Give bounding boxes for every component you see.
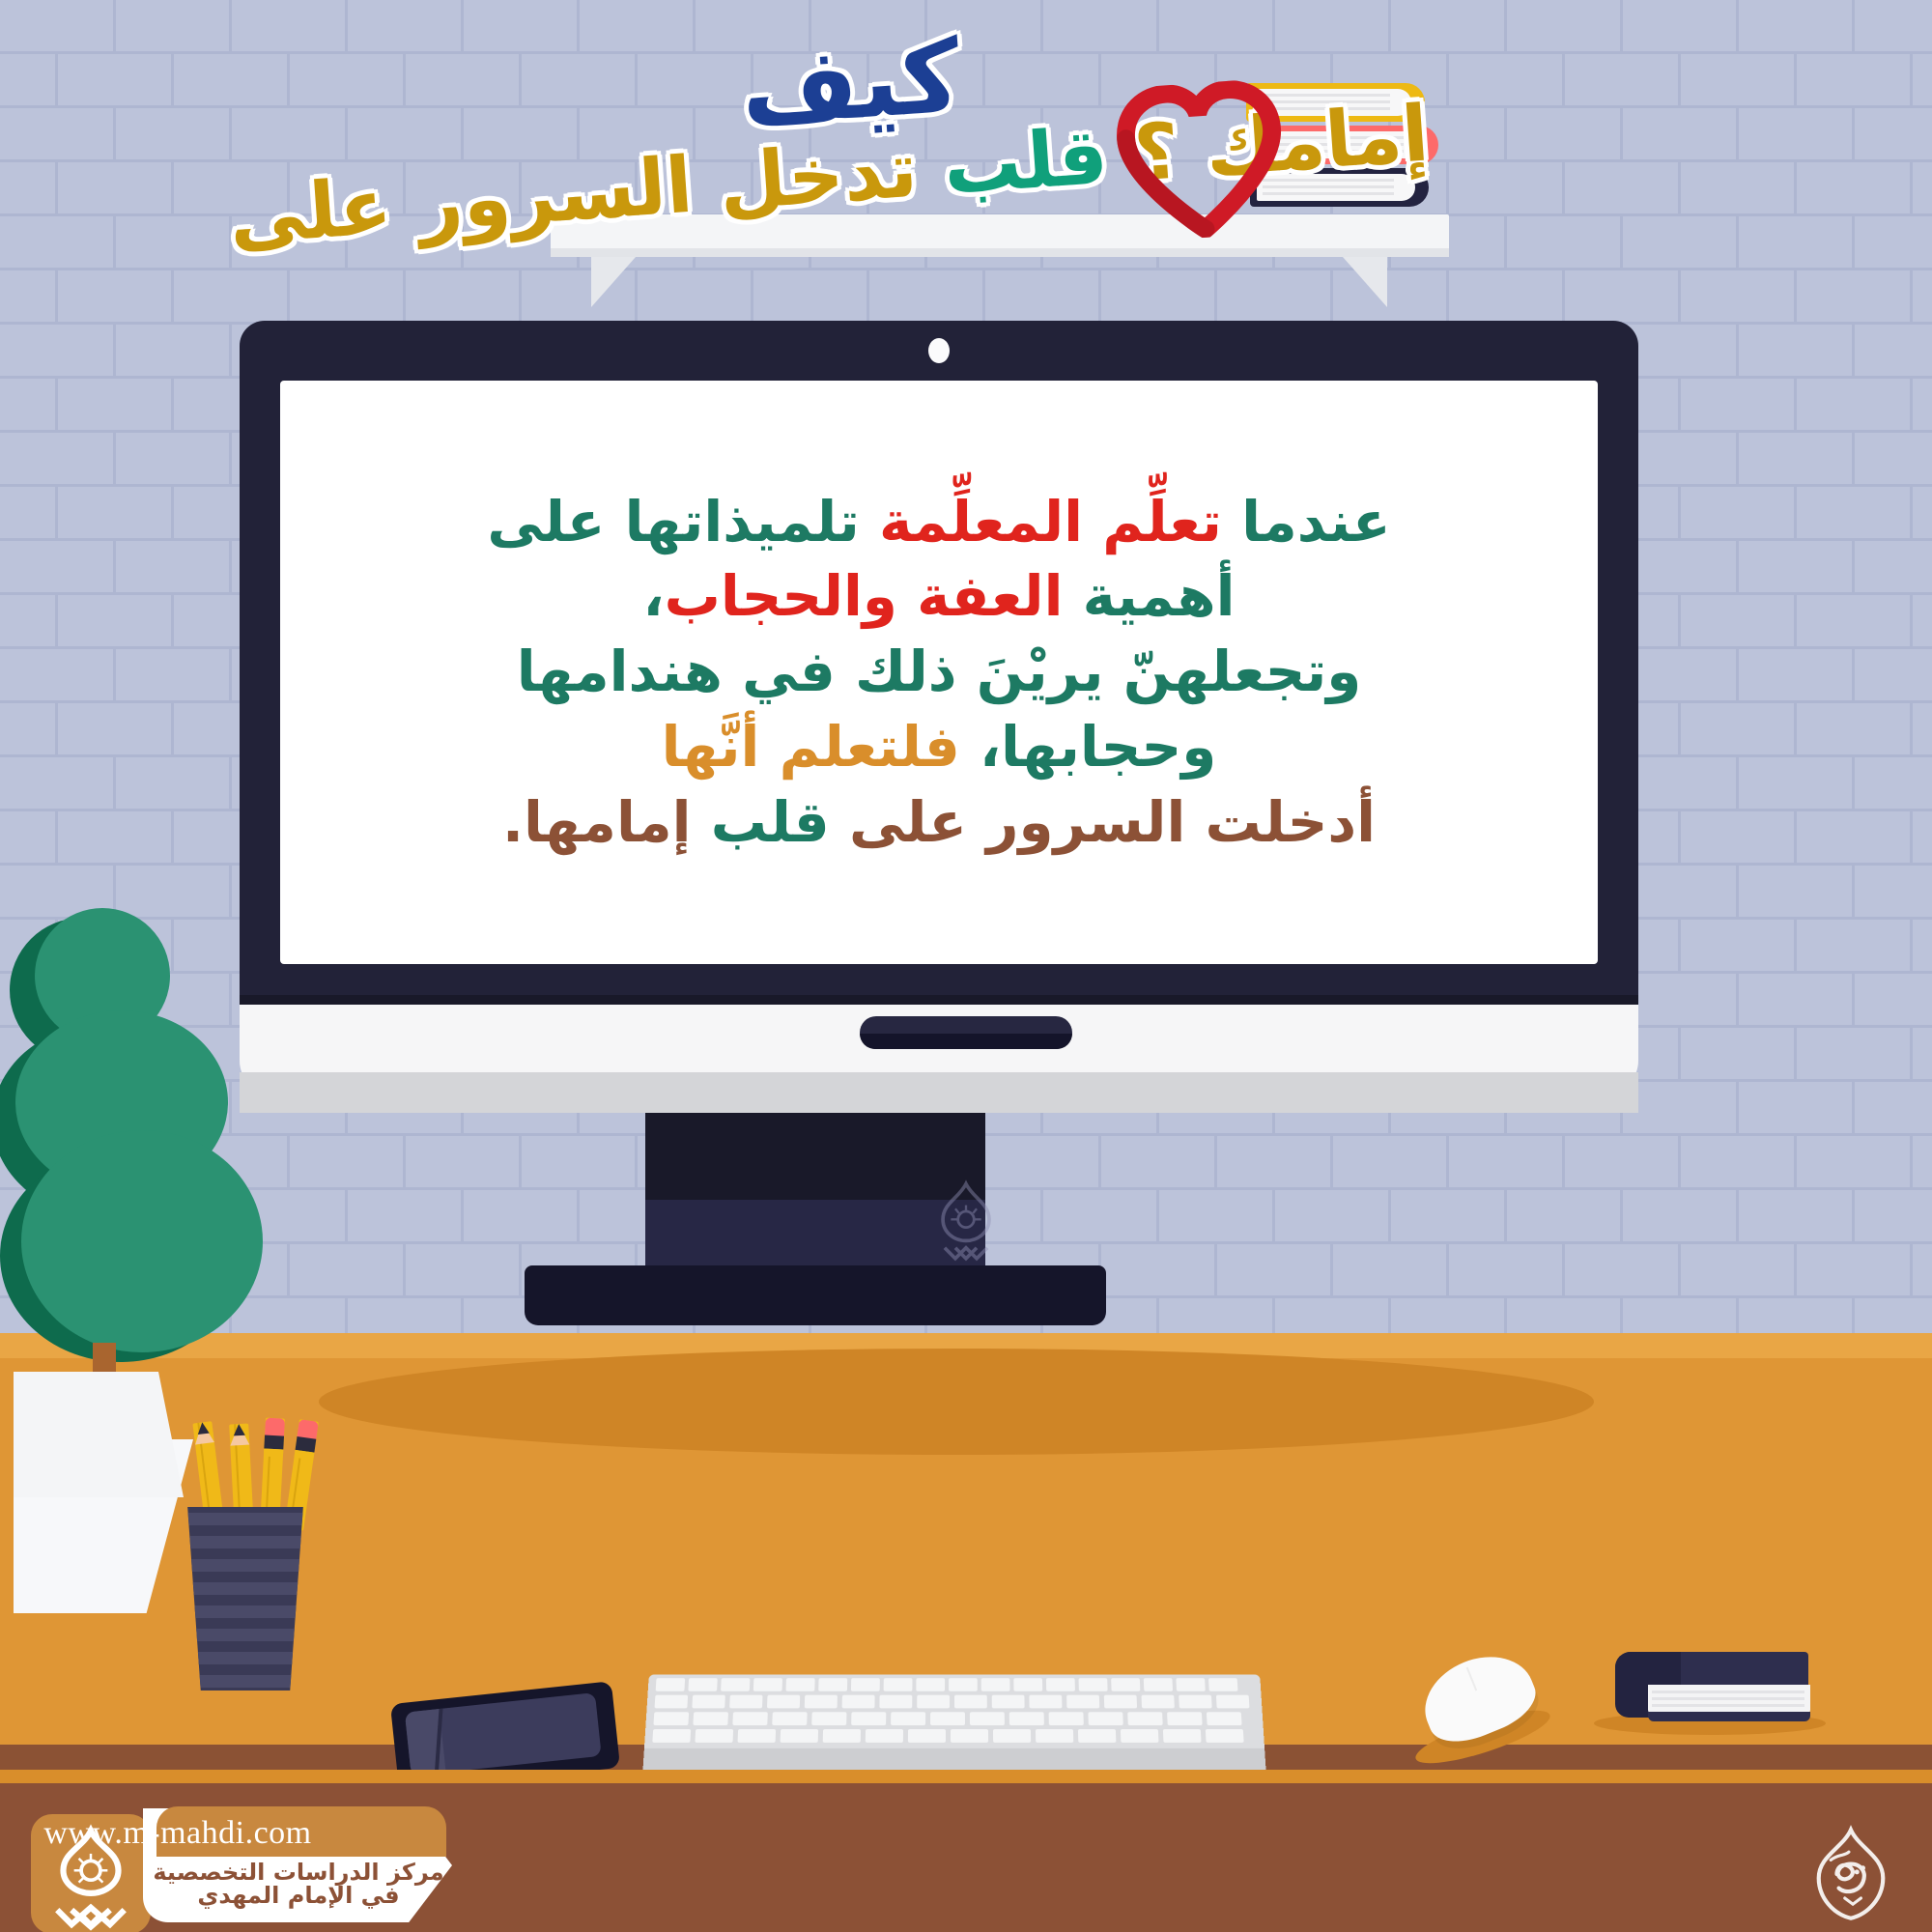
keyboard-key[interactable]: [992, 1695, 1025, 1709]
brick: [1913, 379, 1932, 433]
keyboard-key[interactable]: [908, 1729, 946, 1743]
brick: [1507, 1190, 1623, 1244]
keyboard-key[interactable]: [688, 1678, 717, 1691]
brick: [464, 1190, 580, 1244]
keyboard-row: [656, 1678, 1254, 1691]
keyboard-key[interactable]: [729, 1695, 762, 1709]
keyboard-key[interactable]: [1009, 1712, 1044, 1725]
screen-text-line-1: عندما تعلِّم المعلِّمة تلميذاتها على: [321, 485, 1557, 560]
keyboard-key[interactable]: [1088, 1712, 1122, 1725]
brick: [638, 162, 753, 216]
brick: [1797, 920, 1913, 974]
brick: [348, 0, 464, 54]
brick: [927, 0, 1043, 54]
brick: [1681, 1244, 1797, 1298]
brick: [1217, 1136, 1333, 1190]
brick: [522, 1136, 638, 1190]
brick: [1623, 108, 1739, 162]
brick-row: [0, 0, 1932, 54]
keyboard-key[interactable]: [851, 1678, 880, 1691]
keyboard-key[interactable]: [1141, 1695, 1174, 1709]
brick: [1739, 0, 1855, 54]
monitor-stand-base: [525, 1265, 1106, 1325]
brick: [1101, 270, 1217, 325]
brick: [58, 54, 174, 108]
brick: [0, 216, 116, 270]
brick: [464, 0, 580, 54]
brick: [0, 703, 58, 757]
brick: [580, 108, 696, 162]
brick: [1275, 0, 1391, 54]
keyboard-key[interactable]: [1179, 1695, 1211, 1709]
brick: [290, 162, 406, 216]
keyboard-key[interactable]: [1127, 1712, 1162, 1725]
keyboard-key[interactable]: [1029, 1695, 1062, 1709]
brick: [1797, 54, 1913, 108]
brick: [232, 216, 348, 270]
keyboard-key[interactable]: [1207, 1712, 1242, 1725]
brick: [1739, 974, 1855, 1028]
keyboard-key[interactable]: [1111, 1678, 1140, 1691]
text-segment: عندما: [1222, 489, 1391, 554]
keyboard-key[interactable]: [917, 1695, 950, 1709]
brick: [1681, 1028, 1797, 1082]
brick-row: [0, 270, 1932, 325]
brick: [1797, 270, 1913, 325]
brick: [1797, 487, 1913, 541]
keyboard-key[interactable]: [1078, 1729, 1116, 1743]
brick: [1913, 54, 1932, 108]
brick: [1855, 757, 1932, 811]
keyboard-key[interactable]: [930, 1712, 965, 1725]
brick: [1159, 0, 1275, 54]
brick: [580, 0, 696, 54]
brick: [1623, 541, 1739, 595]
brick: [1507, 108, 1623, 162]
brick: [174, 54, 290, 108]
brick: [1739, 757, 1855, 811]
brick: [1739, 649, 1855, 703]
monitor-bezel: عندما تعلِّم المعلِّمة تلميذاتها علىأهمي…: [240, 321, 1638, 1016]
brick: [1333, 1244, 1449, 1298]
brick: [1681, 270, 1797, 325]
keyboard-key[interactable]: [656, 1678, 686, 1691]
brick: [1855, 974, 1932, 1028]
brick: [116, 0, 232, 54]
brick: [1681, 162, 1797, 216]
brick: [1681, 920, 1797, 974]
keyboard-key[interactable]: [1121, 1729, 1159, 1743]
brick: [290, 1244, 406, 1298]
brick: [1623, 866, 1739, 920]
keyboard-row: [655, 1695, 1255, 1709]
brick: [753, 162, 869, 216]
brick: [406, 162, 522, 216]
keyboard-key[interactable]: [1104, 1695, 1137, 1709]
keyboard-key[interactable]: [951, 1729, 988, 1743]
keyboard-key[interactable]: [1167, 1712, 1203, 1725]
monitor-power-button[interactable]: [860, 1016, 1072, 1049]
text-segment: وحجابها،: [960, 714, 1217, 780]
brick: [406, 54, 522, 108]
screen-message-text: عندما تعلِّم المعلِّمة تلميذاتها علىأهمي…: [311, 485, 1567, 861]
text-segment: إمامها.: [502, 789, 711, 855]
brick: [1623, 0, 1739, 54]
keyboard-key[interactable]: [781, 1729, 818, 1743]
brick: [1101, 1136, 1217, 1190]
brick: [1681, 1136, 1797, 1190]
cup-stripe: [180, 1629, 311, 1641]
keyboard-key[interactable]: [981, 1678, 1010, 1691]
brick: [1739, 541, 1855, 595]
brick: [696, 0, 811, 54]
brick: [1855, 216, 1932, 270]
brick: [1913, 811, 1932, 866]
brick: [1913, 920, 1932, 974]
brick: [1565, 162, 1681, 216]
brick: [406, 1136, 522, 1190]
brick: [638, 270, 753, 325]
text-segment: تعلِّم المعلِّمة: [879, 489, 1222, 554]
brick: [1449, 1136, 1565, 1190]
keyboard-key[interactable]: [1216, 1695, 1250, 1709]
shelf-underside: [551, 248, 1449, 257]
brick: [1681, 54, 1797, 108]
brick: [1855, 325, 1932, 379]
brick: [0, 757, 116, 811]
brick: [1623, 757, 1739, 811]
brick-row: [0, 162, 1932, 216]
brick: [0, 811, 58, 866]
text-segment: تلميذاتها على: [487, 489, 879, 554]
keyboard-key[interactable]: [1176, 1678, 1205, 1691]
potted-plant: [10, 908, 261, 1372]
keyboard-key[interactable]: [916, 1678, 945, 1691]
keyboard-key[interactable]: [772, 1712, 807, 1725]
brick: [232, 0, 348, 54]
screen-text-line-5: أدخلت السرور على قلب إمامها.: [321, 785, 1557, 861]
brick: [1449, 162, 1565, 216]
brick: [985, 54, 1101, 108]
brick: [1797, 595, 1913, 649]
calligraphy-ornament-icon: [1801, 1824, 1901, 1924]
brick: [1797, 703, 1913, 757]
brick: [869, 162, 985, 216]
keyboard-key[interactable]: [884, 1678, 913, 1691]
brick: [1855, 1190, 1932, 1244]
brick: [0, 0, 116, 54]
webcam-icon: [928, 338, 950, 363]
brick: [290, 1136, 406, 1190]
brick: [1855, 541, 1932, 595]
brick: [1681, 487, 1797, 541]
cup-stripe: [180, 1513, 311, 1525]
brick: [753, 270, 869, 325]
brick: [174, 162, 290, 216]
shelf-bracket-right: [1343, 257, 1387, 307]
keyboard-key[interactable]: [721, 1678, 750, 1691]
keyboard-key[interactable]: [785, 1678, 814, 1691]
brick: [869, 270, 985, 325]
brick: [0, 541, 116, 595]
keyboard-key[interactable]: [805, 1695, 838, 1709]
brick: [0, 108, 116, 162]
brick: [58, 703, 174, 757]
brick: [638, 54, 753, 108]
brick: [1391, 1190, 1507, 1244]
cup-stripe: [180, 1605, 311, 1618]
pencil-cup: [180, 1507, 311, 1690]
keyboard-row: [652, 1729, 1256, 1743]
keyboard-key[interactable]: [818, 1678, 847, 1691]
brick: [290, 270, 406, 325]
brick: [116, 108, 232, 162]
brick: [348, 1190, 464, 1244]
brick: [406, 1244, 522, 1298]
shelf-bracket-left: [591, 257, 636, 307]
organization-name: مركز الدراسات التخصصية في الإمام المهدي: [145, 1861, 452, 1907]
brick: [1159, 1190, 1275, 1244]
brick: [1855, 1082, 1932, 1136]
brick: [116, 325, 232, 379]
brick-row: [0, 54, 1932, 108]
keyboard-key[interactable]: [970, 1712, 1005, 1725]
keyboard-key[interactable]: [842, 1695, 875, 1709]
brick: [174, 270, 290, 325]
website-url[interactable]: www.m-mahdi.com: [33, 1812, 323, 1855]
brick: [0, 325, 116, 379]
cup-stripe: [180, 1559, 311, 1572]
brick: [1681, 379, 1797, 433]
screen-text-line-4: وحجابها، فلتعلم أنَّها: [321, 710, 1557, 785]
keyboard-key[interactable]: [866, 1729, 903, 1743]
keyboard-key[interactable]: [1013, 1678, 1042, 1691]
brick: [1855, 0, 1932, 54]
keyboard-key[interactable]: [692, 1695, 724, 1709]
text-segment: أدخلت السرور على: [830, 789, 1376, 855]
keyboard-key[interactable]: [811, 1712, 846, 1725]
brick: [58, 379, 174, 433]
brick: [522, 54, 638, 108]
brick: [1913, 162, 1932, 216]
brick: [927, 108, 1043, 162]
brick: [1855, 866, 1932, 920]
brick: [1043, 1190, 1159, 1244]
text-segment: قلب: [711, 789, 830, 855]
brick: [58, 270, 174, 325]
brick: [0, 270, 58, 325]
text-segment: العفة والحجاب: [665, 563, 1064, 629]
brick: [1507, 0, 1623, 54]
brick: [1507, 216, 1623, 270]
brick: [0, 54, 58, 108]
brick: [522, 162, 638, 216]
brick: [58, 162, 174, 216]
text-segment: فلتعلم أنَّها: [662, 714, 960, 780]
brick: [1623, 1190, 1739, 1244]
screen-text-line-2: أهمية العفة والحجاب،: [321, 559, 1557, 635]
brick: [1855, 108, 1932, 162]
brick-row: [0, 108, 1932, 162]
brick: [1681, 595, 1797, 649]
keyboard-key[interactable]: [753, 1678, 782, 1691]
brick: [985, 270, 1101, 325]
brick: [406, 270, 522, 325]
brick: [1739, 216, 1855, 270]
keyboard-row: [653, 1712, 1255, 1725]
brick: [1217, 1244, 1333, 1298]
brick: [1739, 325, 1855, 379]
brick: [0, 379, 58, 433]
keyboard-key[interactable]: [891, 1712, 925, 1725]
keyboard-key[interactable]: [1049, 1712, 1084, 1725]
brick: [696, 108, 811, 162]
brick: [1797, 1028, 1913, 1082]
keyboard-key[interactable]: [879, 1695, 912, 1709]
keyboard-key[interactable]: [949, 1678, 978, 1691]
plant-pot: [14, 1372, 184, 1497]
keyboard-key[interactable]: [693, 1712, 728, 1725]
screen-text-line-3: وتجعلهنّ يريْنَ ذلك في هندامها: [321, 635, 1557, 710]
brick: [1797, 811, 1913, 866]
poster-canvas: كيف إمامك ؟ قلب تدخل السرور على عندما تع…: [0, 0, 1932, 1932]
brick: [1623, 433, 1739, 487]
keyboard-key[interactable]: [954, 1695, 987, 1709]
text-segment: ،: [643, 563, 665, 629]
desk-book: [1615, 1652, 1808, 1723]
brick: [1797, 162, 1913, 216]
keyboard-key[interactable]: [1208, 1678, 1237, 1691]
keyboard-key[interactable]: [732, 1712, 767, 1725]
keyboard-key[interactable]: [655, 1695, 689, 1709]
brick: [348, 216, 464, 270]
brick: [0, 649, 116, 703]
brick: [290, 54, 406, 108]
keyboard-key[interactable]: [1079, 1678, 1108, 1691]
brick: [1333, 1136, 1449, 1190]
brick: [0, 487, 58, 541]
brick: [1913, 487, 1932, 541]
brick: [464, 108, 580, 162]
keyboard-key[interactable]: [993, 1729, 1031, 1743]
brick: [1623, 1082, 1739, 1136]
keyboard-key[interactable]: [823, 1729, 861, 1743]
desk-shadow: [319, 1349, 1594, 1455]
brick: [116, 541, 232, 595]
brick: [58, 595, 174, 649]
brick: [1275, 1190, 1391, 1244]
brick: [1913, 595, 1932, 649]
wall-shelf: [551, 214, 1449, 257]
keyboard-key[interactable]: [738, 1729, 777, 1743]
brick: [116, 433, 232, 487]
brick: [1739, 108, 1855, 162]
brick: [1449, 270, 1565, 325]
brick: [1101, 1244, 1217, 1298]
brick: [1913, 703, 1932, 757]
keyboard-key[interactable]: [1036, 1729, 1073, 1743]
brick: [1739, 1190, 1855, 1244]
cup-stripe: [180, 1536, 311, 1548]
brick: [1855, 649, 1932, 703]
brick: [116, 216, 232, 270]
cup-stripe: [180, 1582, 311, 1595]
heart-icon: [1104, 77, 1298, 244]
brick: [1913, 1028, 1932, 1082]
brick: [811, 108, 927, 162]
brick: [1797, 1244, 1913, 1298]
keyboard-key[interactable]: [653, 1712, 689, 1725]
monitor-chin-shadow: [240, 1072, 1638, 1113]
brick: [1565, 54, 1681, 108]
brick: [0, 162, 58, 216]
brick: [1623, 325, 1739, 379]
monitor-screen[interactable]: عندما تعلِّم المعلِّمة تلميذاتها علىأهمي…: [280, 381, 1598, 964]
keyboard-key[interactable]: [1144, 1678, 1173, 1691]
keyboard-key[interactable]: [767, 1695, 800, 1709]
brick: [1565, 270, 1681, 325]
brick: [1797, 379, 1913, 433]
keyboard-key[interactable]: [1066, 1695, 1099, 1709]
brick: [1739, 433, 1855, 487]
brick: [1449, 1244, 1565, 1298]
brick: [1739, 866, 1855, 920]
keyboard-key[interactable]: [1163, 1729, 1202, 1743]
brick: [58, 811, 174, 866]
keyboard-key[interactable]: [851, 1712, 886, 1725]
brick: [1043, 0, 1159, 54]
cup-stripe: [180, 1652, 311, 1664]
brick: [58, 487, 174, 541]
brick: [348, 108, 464, 162]
brick: [1855, 433, 1932, 487]
brick: [116, 757, 232, 811]
brick: [1739, 1082, 1855, 1136]
keyboard-key[interactable]: [1046, 1678, 1075, 1691]
brick: [1565, 1136, 1681, 1190]
cup-stripe: [180, 1675, 311, 1688]
brick: [1913, 270, 1932, 325]
keyboard-key[interactable]: [652, 1729, 691, 1743]
brick: [869, 54, 985, 108]
footer-accent-strip: [0, 1770, 1932, 1783]
brick: [0, 433, 116, 487]
brick: [1681, 703, 1797, 757]
keyboard-key[interactable]: [1206, 1729, 1244, 1743]
brick: [753, 54, 869, 108]
brick: [1623, 974, 1739, 1028]
brick: [1391, 0, 1507, 54]
brick: [1913, 1244, 1932, 1298]
brick: [1623, 216, 1739, 270]
brick: [1449, 54, 1565, 108]
brick: [1913, 1136, 1932, 1190]
keyboard-key[interactable]: [695, 1729, 733, 1743]
brick: [1217, 270, 1333, 325]
brick: [1681, 811, 1797, 866]
text-segment: وتجعلهنّ يريْنَ ذلك في هندامها: [517, 639, 1362, 704]
brick: [811, 0, 927, 54]
brick: [1565, 1244, 1681, 1298]
brick: [1623, 649, 1739, 703]
brick: [232, 108, 348, 162]
brick: [116, 649, 232, 703]
mahdi-emblem-icon: [922, 1179, 1010, 1267]
text-segment: أهمية: [1063, 563, 1235, 629]
brick: [1797, 1136, 1913, 1190]
brick: [0, 595, 58, 649]
brick: [985, 162, 1101, 216]
